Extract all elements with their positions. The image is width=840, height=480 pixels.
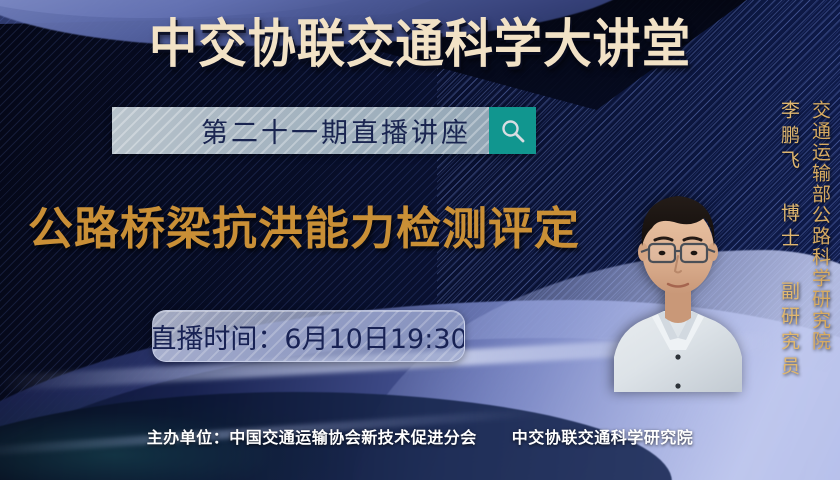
- footer-bar: 主办单位：中国交通运输协会新技术促进分会 中交协联交通科学研究院: [0, 424, 840, 448]
- speaker-credits: 李鹏飞 博士 副研究员 交通运输部公路科学研究院: [776, 100, 834, 381]
- footer-organizer: 主办单位：中国交通运输协会新技术促进分会: [147, 424, 477, 448]
- speaker-name-rank: 李鹏飞 博士 副研究员: [776, 100, 803, 381]
- search-icon[interactable]: [489, 107, 536, 154]
- episode-banner-fill: 第二十一期直播讲座: [112, 107, 489, 154]
- episode-label: 第二十一期直播讲座: [201, 111, 471, 150]
- speaker-photo: [608, 142, 748, 392]
- episode-banner: 第二十一期直播讲座: [112, 107, 536, 154]
- footer-co-organizer: 中交协联交通科学研究院: [512, 424, 694, 448]
- poster-root: 中交协联交通科学大讲堂 第二十一期直播讲座 公路桥梁抗洪能力检测评定 直播时间：…: [0, 0, 840, 480]
- page-title: 中交协联交通科学大讲堂: [29, 16, 810, 74]
- broadcast-time-label: 直播时间：6月10日19:30: [152, 317, 465, 356]
- speaker-affiliation: 交通运输部公路科学研究院: [807, 100, 834, 381]
- lecture-title: 公路桥梁抗洪能力检测评定: [28, 203, 580, 255]
- broadcast-time-badge: 直播时间：6月10日19:30: [152, 310, 465, 362]
